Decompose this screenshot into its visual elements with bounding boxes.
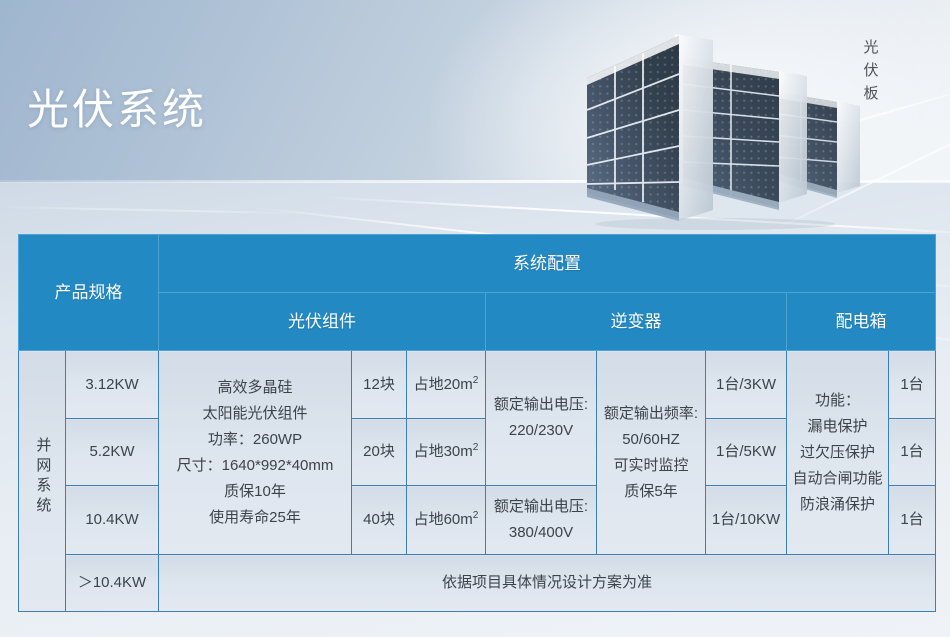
cell-inverter-1: 1台/3KW <box>706 351 787 419</box>
cell-module-description: 高效多晶硅 太阳能光伏组件 功率：260WP 尺寸：1640*992*40mm … <box>159 351 352 555</box>
module-desc-line: 太阳能光伏组件 <box>159 401 351 427</box>
header-product-spec-label: 产品规格 <box>55 283 123 302</box>
table-row: 并网系统 3.12KW 高效多晶硅 太阳能光伏组件 功率：260WP 尺寸：16… <box>19 351 936 419</box>
cell-power-1: 3.12KW <box>66 351 159 419</box>
slide-canvas: 光伏系统 光 伏 板 产品规格 系统配置 <box>0 0 950 637</box>
module-desc-line: 使用寿命25年 <box>159 505 351 531</box>
cell-output-voltage-2: 额定输出电压: 380/400V <box>486 486 597 555</box>
output-voltage-label: 额定输出电压: <box>486 494 596 520</box>
box-function-line: 过欠压保护 <box>787 440 888 466</box>
cell-module-count-2: 20块 <box>352 419 407 486</box>
cell-inverter-3: 1台/10KW <box>706 486 787 555</box>
header-group-distribution-box: 配电箱 <box>787 293 936 351</box>
table-header-row-1: 产品规格 系统配置 <box>19 235 936 293</box>
cell-output-frequency: 额定输出频率: 50/60HZ 可实时监控 质保5年 <box>597 351 706 555</box>
area-unit-superscript: 2 <box>473 510 479 521</box>
area-value: 占地60m <box>414 511 473 528</box>
box-function-line: 功能： <box>787 388 888 414</box>
header-group-inverter-label: 逆变器 <box>611 312 662 331</box>
cell-distribution-box-functions: 功能： 漏电保护 过欠压保护 自动合闸功能 防浪涌保护 <box>787 351 889 555</box>
box-function-line: 防浪涌保护 <box>787 492 888 518</box>
distribution-box-lines: 功能： 漏电保护 过欠压保护 自动合闸功能 防浪涌保护 <box>787 388 888 518</box>
box-function-line: 自动合闸功能 <box>787 466 888 492</box>
header-system-config-label: 系统配置 <box>513 254 581 273</box>
frequency-line: 50/60HZ <box>597 427 705 453</box>
module-desc-line: 高效多晶硅 <box>159 375 351 401</box>
specification-table: 产品规格 系统配置 光伏组件 逆变器 配电箱 <box>18 234 936 612</box>
cell-inverter-2: 1台/5KW <box>706 419 787 486</box>
cell-area-2: 占地30m2 <box>407 419 486 486</box>
callout-char: 伏 <box>860 59 882 82</box>
cell-custom-design-note: 依据项目具体情况设计方案为准 <box>159 555 936 612</box>
cell-power-3: 10.4KW <box>66 486 159 555</box>
area-unit-superscript: 2 <box>473 375 479 386</box>
header-system-config: 系统配置 <box>159 235 936 293</box>
system-type-label: 并网系统 <box>33 437 52 517</box>
output-voltage-lines: 额定输出电压: 380/400V <box>486 494 596 546</box>
frequency-line: 可实时监控 <box>597 453 705 479</box>
callout-char: 光 <box>860 36 882 59</box>
output-frequency-lines: 额定输出频率: 50/60HZ 可实时监控 质保5年 <box>597 401 705 505</box>
page-title: 光伏系统 <box>27 86 207 134</box>
frequency-line: 质保5年 <box>597 479 705 505</box>
cell-module-count-3: 40块 <box>352 486 407 555</box>
module-description-lines: 高效多晶硅 太阳能光伏组件 功率：260WP 尺寸：1640*992*40mm … <box>159 375 351 531</box>
cell-box-count-3: 1台 <box>889 486 936 555</box>
module-desc-line: 质保10年 <box>159 479 351 505</box>
cell-power-2: 5.2KW <box>66 419 159 486</box>
box-function-line: 漏电保护 <box>787 414 888 440</box>
cell-module-count-1: 12块 <box>352 351 407 419</box>
header-group-distribution-box-label: 配电箱 <box>836 312 887 331</box>
header-group-pv-module: 光伏组件 <box>159 293 486 351</box>
output-voltage-value: 380/400V <box>486 520 596 546</box>
module-desc-line: 功率：260WP <box>159 427 351 453</box>
cell-area-3: 占地60m2 <box>407 486 486 555</box>
solar-panel-illustration <box>575 18 865 233</box>
area-unit-superscript: 2 <box>473 442 479 453</box>
cell-power-4: ＞10.4KW <box>66 555 159 612</box>
output-voltage-value: 220/230V <box>486 418 596 444</box>
callout-char: 板 <box>860 82 882 105</box>
area-value: 占地30m <box>414 443 473 460</box>
solar-panel-callout-label: 光 伏 板 <box>860 36 882 105</box>
header-group-inverter: 逆变器 <box>486 293 787 351</box>
cell-box-count-2: 1台 <box>889 419 936 486</box>
table-row: ＞10.4KW 依据项目具体情况设计方案为准 <box>19 555 936 612</box>
cell-box-count-1: 1台 <box>889 351 936 419</box>
output-voltage-label: 额定输出电压: <box>486 392 596 418</box>
cell-system-type: 并网系统 <box>19 351 66 612</box>
output-voltage-lines: 额定输出电压: 220/230V <box>486 392 596 444</box>
header-product-spec: 产品规格 <box>19 235 159 351</box>
area-value: 占地20m <box>414 376 473 393</box>
module-desc-line: 尺寸：1640*992*40mm <box>159 453 351 479</box>
cell-output-voltage-1: 额定输出电压: 220/230V <box>486 351 597 486</box>
header-group-pv-module-label: 光伏组件 <box>288 312 356 331</box>
cell-area-1: 占地20m2 <box>407 351 486 419</box>
frequency-line: 额定输出频率: <box>597 401 705 427</box>
